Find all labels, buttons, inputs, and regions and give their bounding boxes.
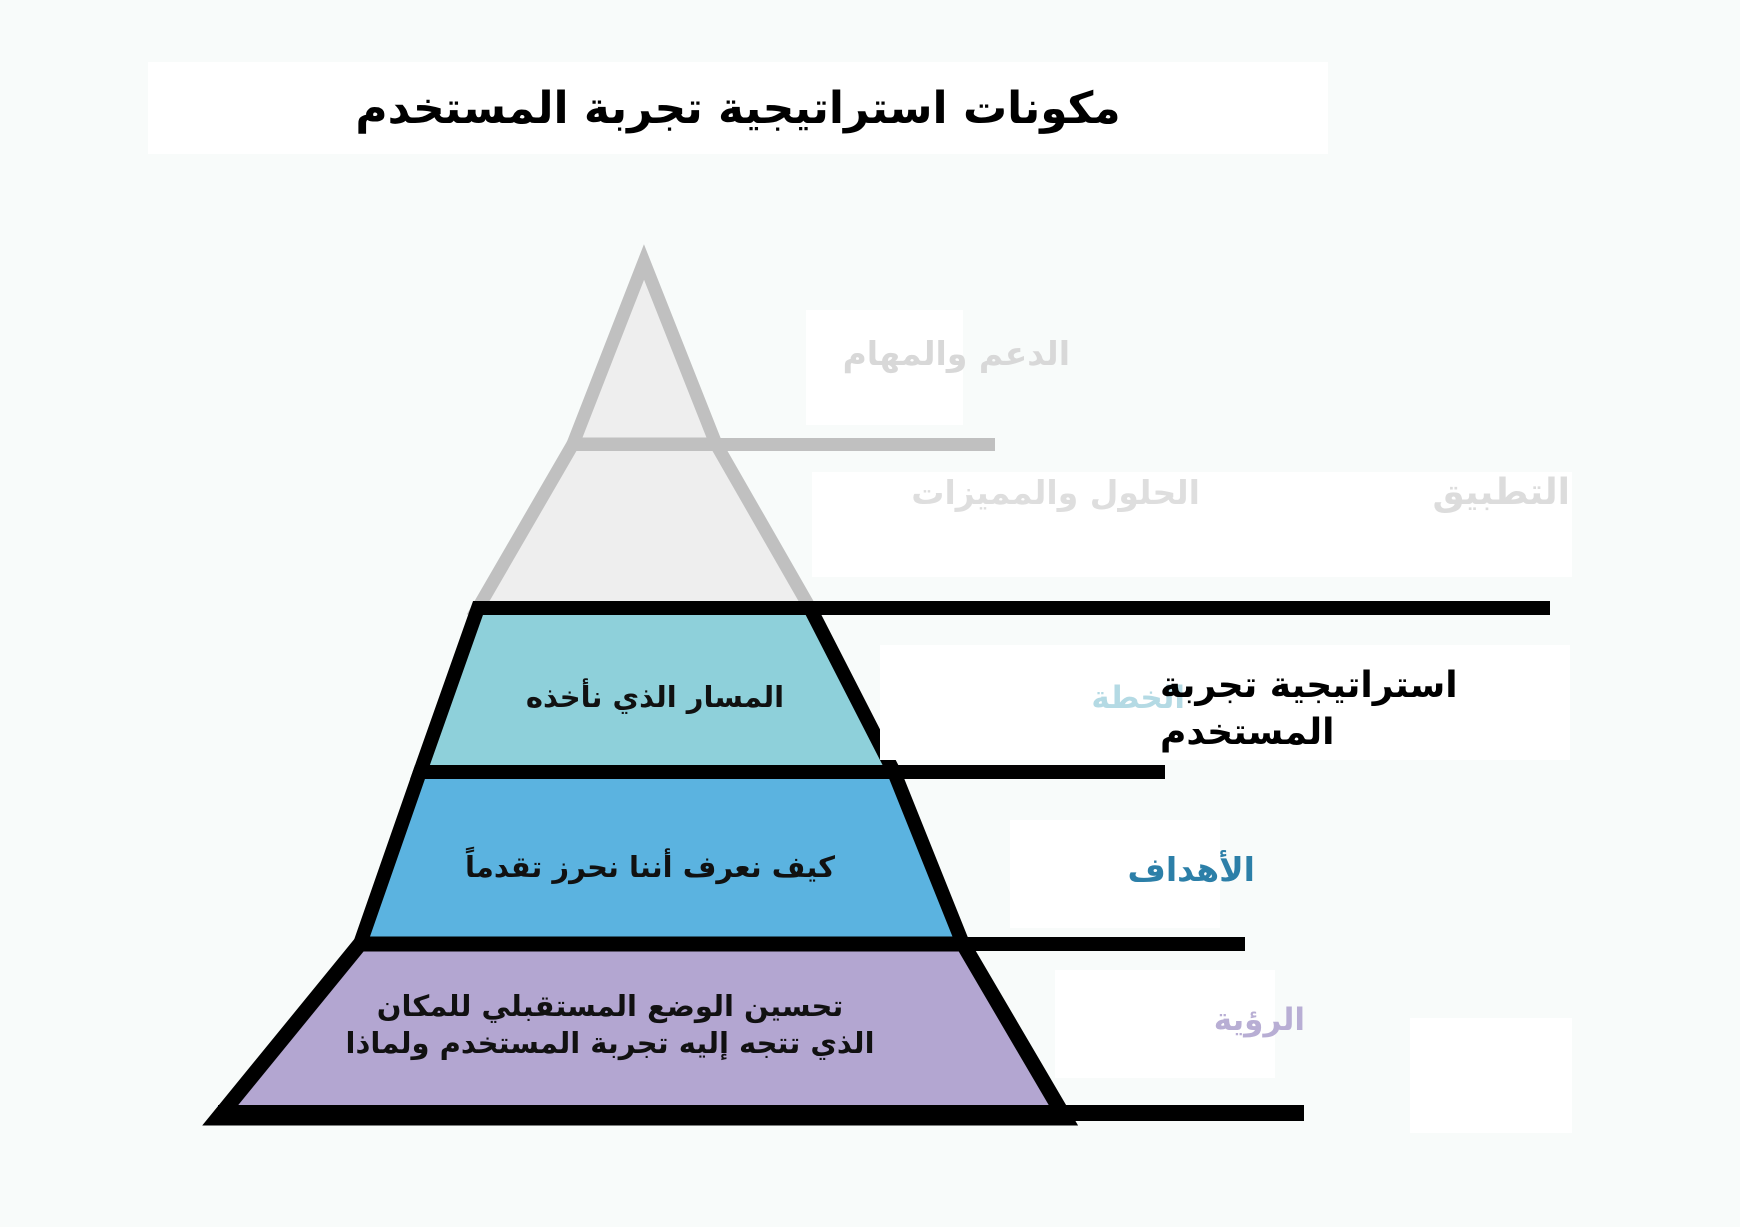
- group-label-ux-strategy-line1: استراتيجية تجربة: [1160, 663, 1458, 710]
- connector-line-goals: [420, 765, 1165, 779]
- connector-line-plan: [478, 601, 1550, 615]
- level-label-support-tasks[interactable]: الدعم والمهام: [740, 326, 1070, 382]
- level-description-vision: تحسين الوضع المستقبلي للمكان الذي تتجه إ…: [270, 975, 950, 1075]
- group-label-application[interactable]: التطبيق: [1270, 465, 1570, 521]
- level-description-goals: كيف نعرف أننا نحرز تقدماً: [370, 840, 930, 896]
- level-description-vision-line2: الذي تتجه إليه تجربة المستخدم ولماذا: [346, 1025, 875, 1062]
- level-label-goals[interactable]: الأهداف: [1035, 845, 1255, 895]
- diagram-canvas: مكونات استراتيجية تجربة المستخدم الدعم و…: [0, 0, 1740, 1227]
- level-description-vision-line1: تحسين الوضع المستقبلي للمكان: [377, 988, 844, 1025]
- group-label-ux-strategy[interactable]: استراتيجية تجربة المستخدم: [1160, 655, 1580, 765]
- connector-line-support-tasks: [573, 438, 995, 451]
- pyramid-level-support-tasks[interactable]: [573, 262, 716, 444]
- level-label-plan[interactable]: الخطة: [965, 673, 1185, 723]
- level-label-solutions-features[interactable]: الحلول والمميزات: [820, 465, 1200, 521]
- pyramid-level-solutions-features[interactable]: [478, 444, 810, 608]
- plate-vision-extra: [1410, 1018, 1572, 1133]
- connector-line-vision: [360, 937, 1245, 951]
- level-label-vision[interactable]: الرؤية: [1085, 995, 1305, 1045]
- pyramid-base-line: [218, 1105, 1304, 1121]
- level-description-plan: المسار الذي نأخذه: [420, 670, 890, 726]
- group-label-ux-strategy-line2: المستخدم: [1160, 710, 1334, 757]
